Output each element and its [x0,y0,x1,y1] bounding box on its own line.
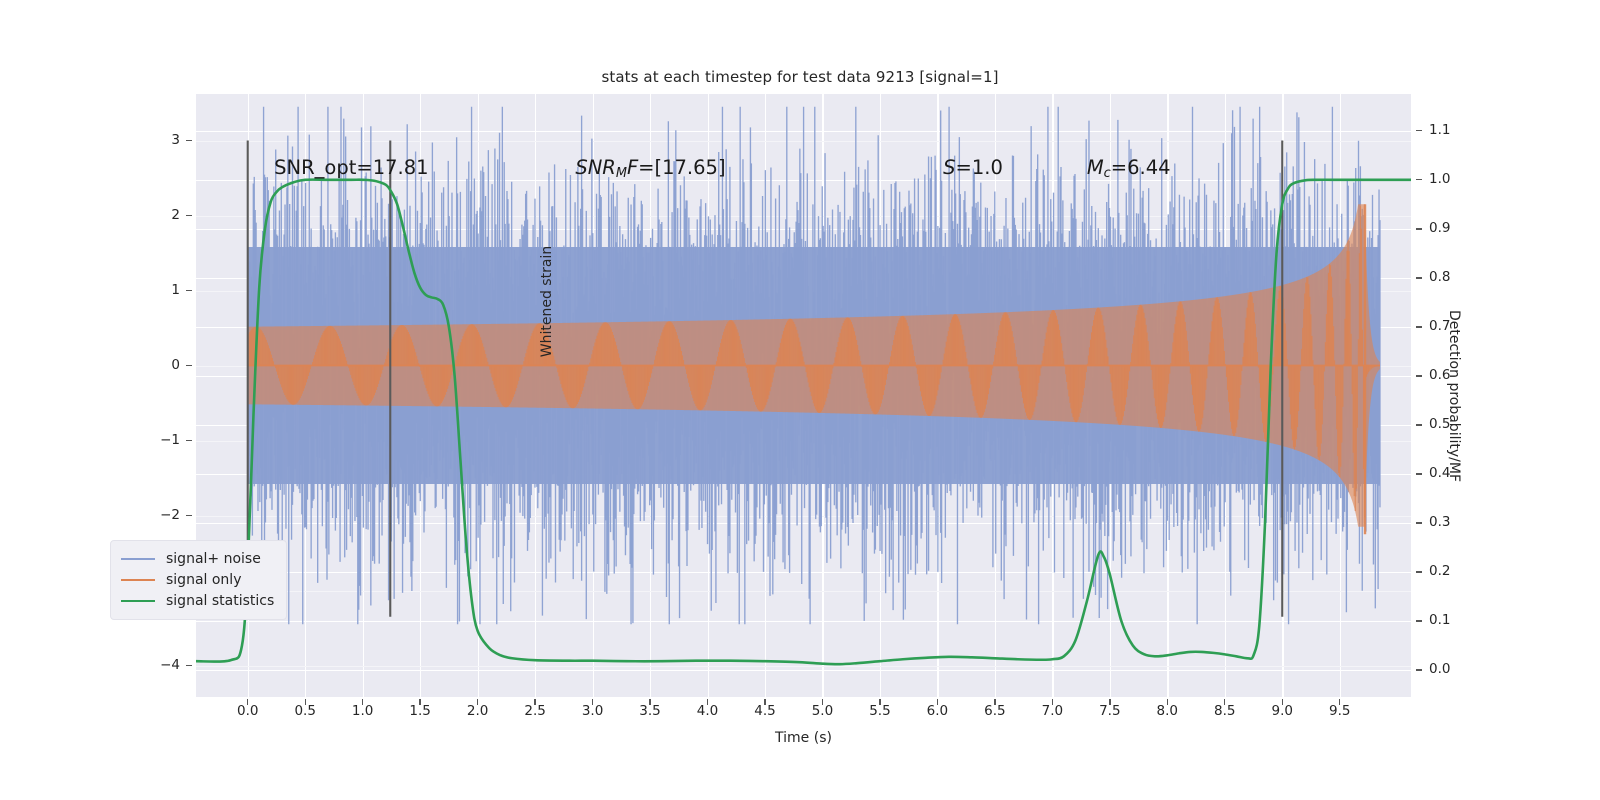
tick-mark [1167,699,1168,705]
legend-label: signal+ noise [166,551,261,567]
tick-mark [649,699,650,705]
legend-color-swatch [121,558,155,560]
y-axis-left-tick-label: −1 [120,432,180,448]
tick-mark [707,699,708,705]
legend-label: signal statistics [166,593,274,609]
tick-mark [534,699,535,705]
x-axis-tick-label: 0.0 [237,703,258,719]
x-axis-tick-label: 7.0 [1042,703,1063,719]
legend-label: signal only [166,572,241,588]
tick-mark [1416,277,1422,278]
tick-mark [247,699,248,705]
legend-color-swatch [121,579,155,581]
tick-mark [994,699,995,705]
x-axis-tick-label: 6.5 [984,703,1005,719]
tick-mark [477,699,478,705]
x-axis-tick-label: 8.5 [1214,703,1235,719]
tick-mark [362,699,363,705]
y-axis-left-tick-label: 2 [120,207,180,223]
x-axis-tick-label: 2.5 [524,703,545,719]
tick-mark [1416,179,1422,180]
tick-mark [592,699,593,705]
tick-mark [1282,699,1283,705]
tick-mark [1416,228,1422,229]
x-axis-tick-label: 4.5 [754,703,775,719]
tick-mark [419,699,420,705]
x-axis-tick-label: 4.0 [697,703,718,719]
tick-mark [822,699,823,705]
legend-item[interactable]: signal only [121,569,274,590]
x-axis-tick-label: 9.0 [1272,703,1293,719]
tick-mark [186,515,192,516]
tick-mark [937,699,938,705]
x-axis-tick-label: 5.0 [812,703,833,719]
annotation-snr-opt: SNR_opt=17.81 [274,156,428,179]
tick-mark [305,699,306,705]
tick-mark [1109,699,1110,705]
tick-mark [186,215,192,216]
tick-mark [1416,130,1422,131]
x-axis-tick-label: 0.5 [294,703,315,719]
tick-mark [1416,375,1422,376]
x-axis-tick-label: 8.0 [1157,703,1178,719]
plot-axes-area [196,94,1411,697]
legend-item[interactable]: signal statistics [121,590,274,611]
x-axis-tick-label: 3.0 [582,703,603,719]
tick-mark [1339,699,1340,705]
tick-mark [879,699,880,705]
y-axis-left-tick-label: −4 [120,657,180,673]
tick-mark [186,365,192,366]
legend-item[interactable]: signal+ noise [121,548,274,569]
plot-title: stats at each timestep for test data 921… [0,68,1600,86]
x-axis-tick-label: 7.5 [1099,703,1120,719]
x-axis-tick-label: 1.5 [409,703,430,719]
x-axis-tick-label: 3.5 [639,703,660,719]
x-axis-tick-label: 1.0 [352,703,373,719]
x-axis-tick-label: 9.5 [1329,703,1350,719]
tick-mark [186,665,192,666]
legend-color-swatch [121,600,155,602]
y-axis-left-label: Whitened strain [535,0,559,603]
x-axis-label: Time (s) [196,730,1411,746]
y-axis-right-label: Detection probability/MF [1442,96,1466,696]
y-axis-left-tick-label: 0 [120,357,180,373]
tick-mark [1416,473,1422,474]
tick-mark [1416,571,1422,572]
x-axis-tick-label: 2.0 [467,703,488,719]
legend: signal+ noisesignal onlysignal statistic… [110,540,287,620]
x-axis-tick-label: 6.0 [927,703,948,719]
tick-mark [1416,620,1422,621]
tick-mark [186,290,192,291]
annotation-s: S=1.0 [943,156,1003,179]
tick-mark [186,140,192,141]
y-axis-left-tick-label: 3 [120,132,180,148]
annotation-snr-mf: SNRMF=[17.65] [575,156,725,181]
tick-mark [1416,522,1422,523]
tick-mark [1052,699,1053,705]
tick-mark [186,440,192,441]
tick-mark [1416,669,1422,670]
y-axis-left-tick-label: 1 [120,282,180,298]
data-layer [196,94,1411,697]
y-axis-left-tick-label: −2 [120,507,180,523]
x-axis-tick-label: 5.5 [869,703,890,719]
tick-mark [1416,326,1422,327]
figure-canvas: stats at each timestep for test data 921… [0,0,1600,800]
annotation-mc: Mc=6.44 [1087,156,1171,181]
tick-mark [1416,424,1422,425]
tick-mark [1224,699,1225,705]
tick-mark [764,699,765,705]
